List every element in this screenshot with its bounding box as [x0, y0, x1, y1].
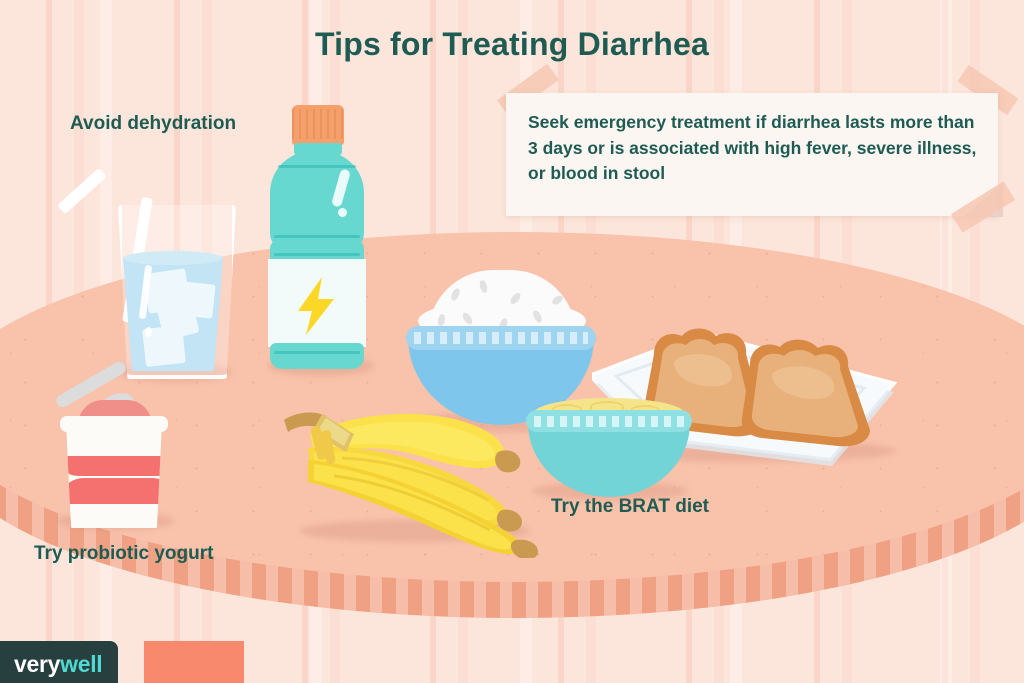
bottle-base — [270, 343, 364, 369]
emergency-callout-card: Seek emergency treatment if diarrhea las… — [506, 93, 998, 216]
page-title: Tips for Treating Diarrhea — [0, 26, 1024, 63]
infographic-canvas: Tips for Treating Diarrhea Seek emergenc… — [0, 0, 1024, 683]
bottle-highlight-dot — [338, 208, 347, 217]
lightning-bolt-icon — [292, 277, 340, 335]
bananas — [262, 398, 562, 558]
sports-drink-bottle — [264, 105, 368, 370]
glass-of-ice-water — [118, 205, 228, 375]
glass-body — [118, 205, 236, 379]
label-probiotic-yogurt: Try probiotic yogurt — [34, 543, 213, 565]
bottle-ring-3 — [274, 253, 360, 256]
straw-tip — [145, 327, 152, 337]
logo-text-well: well — [60, 651, 102, 677]
verywell-logo: verywell — [14, 651, 102, 678]
footer-color-swatch — [144, 641, 244, 683]
banana-bunch-shape — [262, 398, 562, 558]
rice-bowl-rim-pattern — [414, 332, 588, 344]
yogurt-cup — [56, 400, 174, 528]
bottle-cap-ridges — [292, 109, 344, 139]
yogurt-band-2 — [58, 478, 178, 504]
emergency-callout-text: Seek emergency treatment if diarrhea las… — [528, 110, 980, 187]
yogurt-band-1 — [58, 456, 178, 476]
label-avoid-dehydration: Avoid dehydration — [70, 113, 236, 135]
logo-text-very: very — [14, 651, 60, 677]
bottle-ring-2 — [274, 235, 360, 238]
bottle-ring-1 — [278, 165, 356, 168]
yogurt-cup-body — [64, 422, 164, 528]
toast-slice-2 — [728, 336, 898, 456]
bottle-ring-4 — [274, 351, 360, 354]
